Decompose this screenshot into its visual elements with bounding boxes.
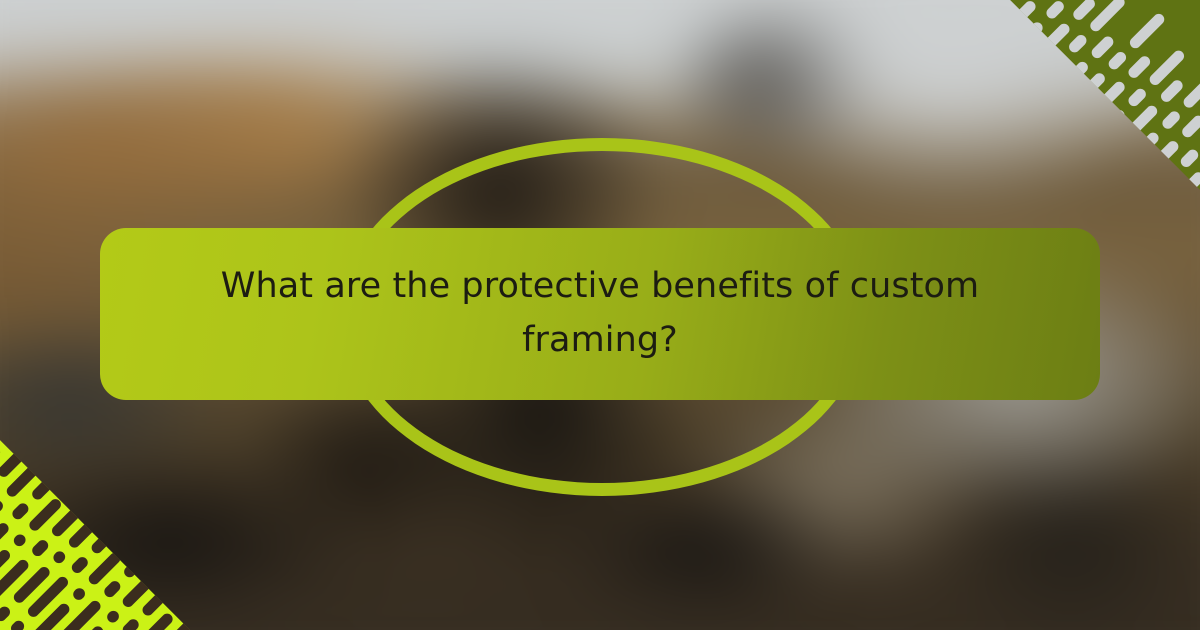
headline-banner: What are the protective benefits of cust… [100, 228, 1100, 400]
question-card: What are the protective benefits of cust… [0, 0, 1200, 630]
page-title: What are the protective benefits of cust… [174, 260, 1026, 367]
